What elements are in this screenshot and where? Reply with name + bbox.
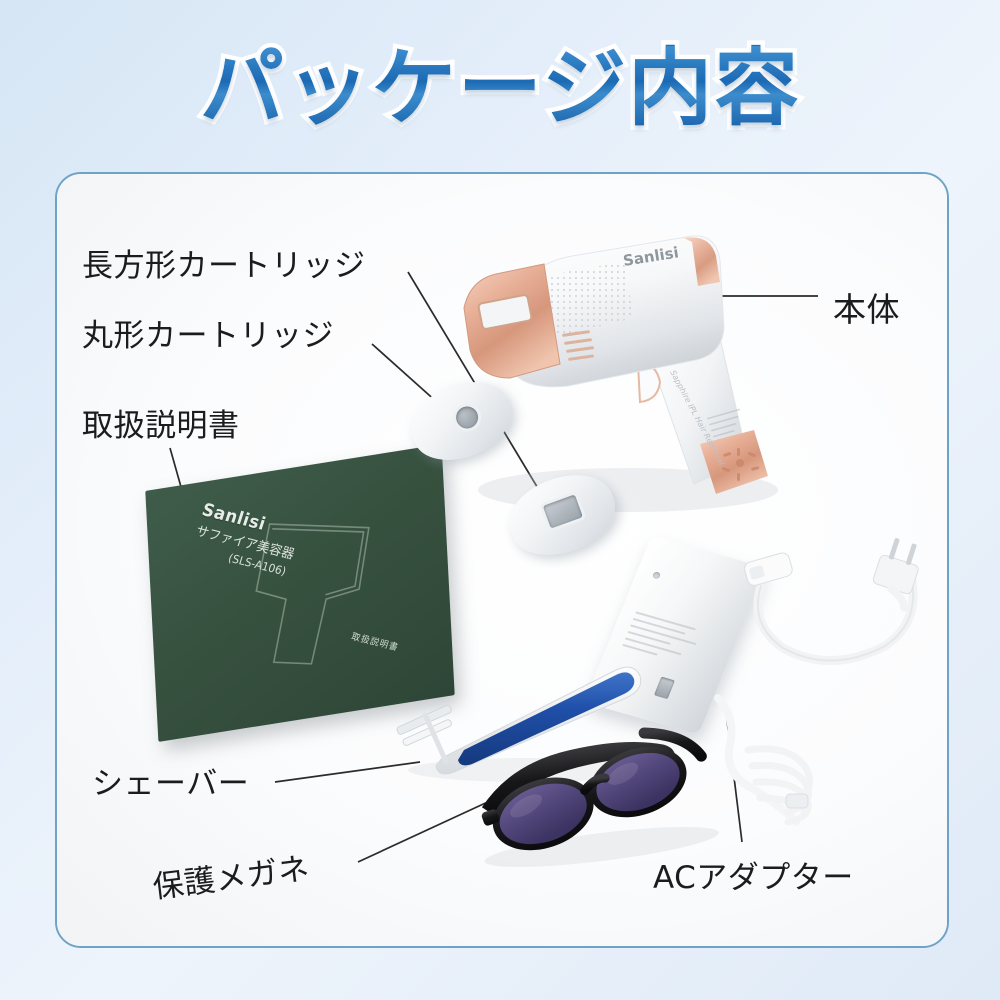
callout-label-rect-cartridge: 長方形カートリッジ [82, 240, 366, 285]
adapter-led-icon [652, 571, 661, 579]
callout-label-round-cartridge: 丸形カートリッジ [82, 310, 334, 355]
callout-label-main-unit: 本体 [833, 283, 900, 331]
page-title-outline: パッケージ内容 [0, 46, 1000, 130]
callout-label-ac-adapter: ACアダプター [653, 852, 854, 897]
cable-tie [786, 794, 808, 808]
infographic-stage: パッケージ内容 パッケージ内容 長方形カートリッジ 丸形カートリッジ 取扱説明書… [0, 0, 1000, 1000]
dc-cable [700, 690, 900, 840]
power-cord [735, 528, 945, 688]
round-cartridge-aperture [453, 404, 482, 433]
shaver-head [396, 704, 452, 765]
ipl-device: Sapphire IPL Hair Removal Sanlisi [448, 222, 798, 522]
rect-cartridge-aperture [543, 495, 583, 529]
callout-label-manual: 取扱説明書 [82, 400, 240, 445]
iec-connector-icon [743, 551, 794, 587]
